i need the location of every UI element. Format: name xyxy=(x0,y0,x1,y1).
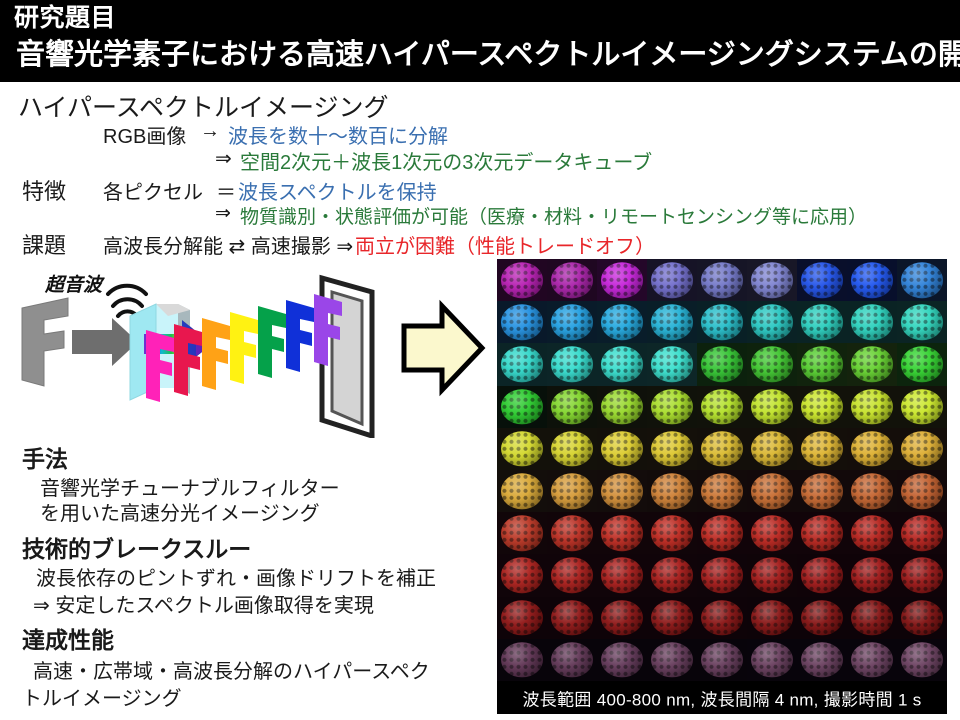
spectral-ball-cell xyxy=(647,343,697,385)
spectral-ball-cell xyxy=(597,597,647,639)
spectral-ball-cell xyxy=(797,343,847,385)
spectral-ball xyxy=(801,642,843,677)
spectral-ball xyxy=(701,642,743,677)
performance-line-2: トルイメージング xyxy=(22,682,182,711)
spectral-ball xyxy=(501,347,543,382)
spectral-ball xyxy=(801,262,843,297)
arrow-right-icon: → xyxy=(200,120,220,143)
spectral-ball-cell xyxy=(697,554,747,596)
spectral-ball xyxy=(851,347,893,382)
spectral-ball-cell xyxy=(697,386,747,428)
spectral-ball xyxy=(601,347,643,382)
spectral-ball xyxy=(851,262,893,297)
spectral-ball-cell xyxy=(797,597,847,639)
spectral-ball-cell xyxy=(747,512,797,554)
spectral-ball xyxy=(501,389,543,424)
spectral-ball xyxy=(901,431,943,466)
spectral-ball xyxy=(651,600,693,635)
spectral-ball-grid xyxy=(497,259,947,681)
spectral-ball-cell xyxy=(647,470,697,512)
spectral-ball xyxy=(901,347,943,382)
spectral-ball xyxy=(901,305,943,340)
spectral-ball-cell xyxy=(797,639,847,681)
spectral-ball xyxy=(601,305,643,340)
spectral-ball-cell xyxy=(547,301,597,343)
spectral-ball-cell xyxy=(697,597,747,639)
spectral-ball-cell xyxy=(647,301,697,343)
spectral-ball-cell xyxy=(497,597,547,639)
spectral-ball-cell xyxy=(697,428,747,470)
spectral-ball-cell xyxy=(597,428,647,470)
overview-heading: ハイパースペクトルイメージング xyxy=(18,88,389,124)
result-caption-bar: 波長範囲 400-800 nm, 波長間隔 4 nm, 撮影時間 1 s xyxy=(497,681,947,714)
breakthrough-line-2: ⇒ 安定したスペクトル画像取得を実現 xyxy=(33,589,374,618)
spectral-ball xyxy=(701,558,743,593)
spectral-ball-cell xyxy=(547,512,597,554)
spectral-ball xyxy=(701,305,743,340)
spectral-ball-cell xyxy=(897,428,947,470)
spectral-ball xyxy=(601,262,643,297)
spectral-ball-montage xyxy=(497,259,947,681)
spectral-ball-cell xyxy=(897,343,947,385)
spectral-ball-cell xyxy=(847,597,897,639)
method-line-2: を用いた高速分光イメージング xyxy=(40,497,320,526)
spectral-ball-cell xyxy=(597,512,647,554)
spectral-ball xyxy=(601,431,643,466)
spectral-ball-cell xyxy=(697,470,747,512)
spectral-ball xyxy=(801,516,843,551)
spectral-ball xyxy=(551,642,593,677)
spectral-ball xyxy=(601,389,643,424)
performance-heading: 達成性能 xyxy=(22,621,114,655)
rgb-term-label: RGB画像 xyxy=(103,120,186,149)
spectral-ball xyxy=(651,558,693,593)
spectral-ball xyxy=(751,473,793,508)
spectral-ball-cell xyxy=(497,470,547,512)
spectral-ball-cell xyxy=(597,343,647,385)
breakthrough-line-1: 波長依存のピントずれ・画像ドリフトを補正 xyxy=(36,562,436,591)
spectral-ball-cell xyxy=(497,343,547,385)
spectral-ball xyxy=(751,262,793,297)
spectral-ball-cell xyxy=(847,639,897,681)
spectral-ball-cell xyxy=(747,470,797,512)
spectral-ball-cell xyxy=(797,470,847,512)
spectral-ball-cell xyxy=(797,259,847,301)
spectral-ball-cell xyxy=(897,554,947,596)
spectral-ball xyxy=(501,473,543,508)
spectral-ball xyxy=(651,347,693,382)
spectral-ball-cell xyxy=(597,470,647,512)
spectral-ball-cell xyxy=(797,428,847,470)
spectral-ball-cell xyxy=(497,639,547,681)
spectral-ball xyxy=(601,642,643,677)
spectral-ball xyxy=(701,262,743,297)
spectral-ball-cell xyxy=(547,428,597,470)
spectral-ball-cell xyxy=(747,301,797,343)
spectral-ball xyxy=(651,642,693,677)
spectrum-retain-value: 波長スペクトルを保持 xyxy=(238,176,437,205)
spectral-ball-cell xyxy=(647,259,697,301)
spectral-ball xyxy=(501,558,543,593)
spectral-ball-cell xyxy=(597,554,647,596)
spectral-ball-cell xyxy=(697,639,747,681)
spectral-ball-cell xyxy=(547,639,597,681)
spectral-ball-cell xyxy=(747,639,797,681)
spectral-ball xyxy=(901,389,943,424)
slide-header: 研究題目 音響光学素子における高速ハイパースペクトルイメージングシステムの開発 xyxy=(0,0,960,82)
optical-system-diagram: 超音波 xyxy=(0,258,496,438)
spectral-ball xyxy=(551,389,593,424)
spectral-ball xyxy=(751,642,793,677)
spectral-ball xyxy=(601,473,643,508)
spectral-f-orange xyxy=(202,318,230,390)
spectral-ball xyxy=(551,347,593,382)
spectral-ball xyxy=(901,600,943,635)
spectral-ball xyxy=(851,473,893,508)
spectral-f-magenta xyxy=(146,330,174,402)
spectral-ball xyxy=(651,305,693,340)
spectral-ball-cell xyxy=(647,639,697,681)
spectral-ball xyxy=(801,347,843,382)
spectral-ball-cell xyxy=(897,597,947,639)
spectral-ball-cell xyxy=(497,386,547,428)
spectral-ball-cell xyxy=(697,343,747,385)
research-topic-label: 研究題目 xyxy=(14,3,116,33)
spectral-ball xyxy=(651,262,693,297)
object-f-shape xyxy=(22,298,68,386)
method-heading: 手法 xyxy=(22,440,68,474)
spectral-ball-cell xyxy=(497,301,547,343)
spectral-ball xyxy=(701,473,743,508)
spectral-ball xyxy=(601,600,643,635)
spectral-ball-cell xyxy=(897,259,947,301)
spectral-ball xyxy=(501,305,543,340)
spectral-ball-cell xyxy=(647,597,697,639)
spectral-ball-cell xyxy=(797,301,847,343)
hyperspectral-result-panel: 波長範囲 400-800 nm, 波長間隔 4 nm, 撮影時間 1 s xyxy=(497,259,947,714)
performance-line-1: 高速・広帯域・高波長分解のハイパースペク xyxy=(33,655,430,684)
datacube-value: 空間2次元＋波長1次元の3次元データキューブ xyxy=(240,146,652,175)
spectral-ball-cell xyxy=(847,301,897,343)
spectral-ball xyxy=(851,516,893,551)
spectral-ball xyxy=(901,516,943,551)
spectral-ball xyxy=(601,516,643,551)
spectral-ball-cell xyxy=(547,259,597,301)
result-caption: 波長範囲 400-800 nm, 波長間隔 4 nm, 撮影時間 1 s xyxy=(522,685,921,710)
spectral-ball-cell xyxy=(497,259,547,301)
spectral-f-crimson xyxy=(174,324,202,396)
spectral-ball-cell xyxy=(897,512,947,554)
spectral-ball-cell xyxy=(497,512,547,554)
double-arrow-icon-2: ⇒ xyxy=(215,202,231,225)
spectral-ball xyxy=(901,558,943,593)
slide-root: 研究題目 音響光学素子における高速ハイパースペクトルイメージングシステムの開発 … xyxy=(0,0,960,720)
spectral-ball-cell xyxy=(547,470,597,512)
spectral-ball-cell xyxy=(497,428,547,470)
spectral-ball xyxy=(551,262,593,297)
spectral-ball xyxy=(551,516,593,551)
output-arrow-icon xyxy=(404,306,482,390)
spectral-ball-cell xyxy=(897,639,947,681)
spectral-ball xyxy=(701,347,743,382)
spectral-ball xyxy=(551,473,593,508)
spectral-ball-cell xyxy=(897,470,947,512)
spectral-ball-cell xyxy=(797,554,847,596)
rgb-decompose-value: 波長を数十〜数百に分解 xyxy=(228,120,448,149)
spectral-ball xyxy=(901,473,943,508)
spectral-ball xyxy=(551,600,593,635)
breakthrough-heading: 技術的ブレークスルー xyxy=(22,530,251,564)
spectral-ball xyxy=(851,558,893,593)
spectral-ball xyxy=(851,305,893,340)
spectral-ball xyxy=(851,600,893,635)
spectral-ball-cell xyxy=(747,259,797,301)
spectral-ball-cell xyxy=(747,597,797,639)
spectral-ball xyxy=(751,431,793,466)
spectral-ball-cell xyxy=(597,639,647,681)
spectral-ball xyxy=(501,262,543,297)
spectral-ball xyxy=(751,347,793,382)
spectral-ball-cell xyxy=(847,386,897,428)
spectral-ball xyxy=(501,431,543,466)
spectral-ball xyxy=(551,431,593,466)
spectral-ball-cell xyxy=(847,554,897,596)
spectral-ball xyxy=(601,558,643,593)
spectral-ball-cell xyxy=(647,512,697,554)
challenge-term: 高波長分解能 ⇄ 高速撮影 ⇒ xyxy=(103,230,353,259)
spectral-ball xyxy=(901,262,943,297)
spectral-ball xyxy=(801,389,843,424)
equals-sign: ＝ xyxy=(216,176,236,205)
spectral-ball-cell xyxy=(697,512,747,554)
page-title: 音響光学素子における高速ハイパースペクトルイメージングシステムの開発 xyxy=(16,36,960,74)
spectral-ball-cell xyxy=(797,386,847,428)
features-label: 特徴 xyxy=(22,174,66,206)
spectral-ball-cell xyxy=(847,343,897,385)
spectral-ball xyxy=(751,558,793,593)
spectral-f-yellow xyxy=(230,312,258,384)
challenge-tradeoff-value: 両立が困難（性能トレードオフ） xyxy=(355,230,655,259)
spectral-ball-cell xyxy=(647,428,697,470)
spectral-ball xyxy=(501,642,543,677)
spectral-ball-cell xyxy=(547,386,597,428)
double-arrow-icon: ⇒ xyxy=(215,146,232,171)
spectral-ball xyxy=(701,516,743,551)
spectral-ball-cell xyxy=(897,386,947,428)
spectral-ball-cell xyxy=(647,386,697,428)
spectral-f-blue xyxy=(286,300,314,372)
spectral-ball-cell xyxy=(747,554,797,596)
spectral-ball xyxy=(551,558,593,593)
spectral-ball-cell xyxy=(547,597,597,639)
application-value: 物質識別・状態評価が可能（医療・材料・リモートセンシング等に応用） xyxy=(240,202,867,229)
spectral-ball-cell xyxy=(847,259,897,301)
spectral-ball xyxy=(801,431,843,466)
spectral-ball-cell xyxy=(747,386,797,428)
spectral-ball-cell xyxy=(747,343,797,385)
spectral-ball xyxy=(801,473,843,508)
spectral-ball-cell xyxy=(697,301,747,343)
spectral-ball xyxy=(851,389,893,424)
spectral-ball xyxy=(801,558,843,593)
spectral-ball xyxy=(751,516,793,551)
spectral-ball xyxy=(701,431,743,466)
spectral-ball xyxy=(751,305,793,340)
spectral-ball-cell xyxy=(847,428,897,470)
spectral-ball-cell xyxy=(847,470,897,512)
spectral-ball xyxy=(651,431,693,466)
spectral-ball xyxy=(801,305,843,340)
spectral-ball xyxy=(501,600,543,635)
spectral-ball-cell xyxy=(797,512,847,554)
spectral-ball-cell xyxy=(597,301,647,343)
spectral-ball-cell xyxy=(747,428,797,470)
spectral-ball-cell xyxy=(597,259,647,301)
spectral-ball-cell xyxy=(847,512,897,554)
ultrasound-label: 超音波 xyxy=(45,270,102,297)
spectral-ball-cell xyxy=(547,343,597,385)
spectral-ball-cell xyxy=(647,554,697,596)
spectral-ball-cell xyxy=(547,554,597,596)
spectral-ball xyxy=(851,642,893,677)
spectral-ball xyxy=(651,389,693,424)
input-light-arrow-icon xyxy=(72,318,138,366)
spectral-ball xyxy=(551,305,593,340)
spectral-ball xyxy=(901,642,943,677)
spectral-ball xyxy=(801,600,843,635)
spectral-ball-cell xyxy=(497,554,547,596)
spectral-ball xyxy=(701,389,743,424)
spectral-ball-cell xyxy=(897,301,947,343)
challenge-label: 課題 xyxy=(22,228,66,260)
spectral-ball xyxy=(751,389,793,424)
pixel-term-label: 各ピクセル xyxy=(103,176,203,205)
spectral-ball xyxy=(701,600,743,635)
spectral-ball-cell xyxy=(597,386,647,428)
spectral-ball-cell xyxy=(697,259,747,301)
spectral-ball xyxy=(651,516,693,551)
spectral-ball xyxy=(751,600,793,635)
spectral-f-green xyxy=(258,306,286,378)
spectral-ball xyxy=(851,431,893,466)
spectral-ball xyxy=(651,473,693,508)
spectral-ball xyxy=(501,516,543,551)
